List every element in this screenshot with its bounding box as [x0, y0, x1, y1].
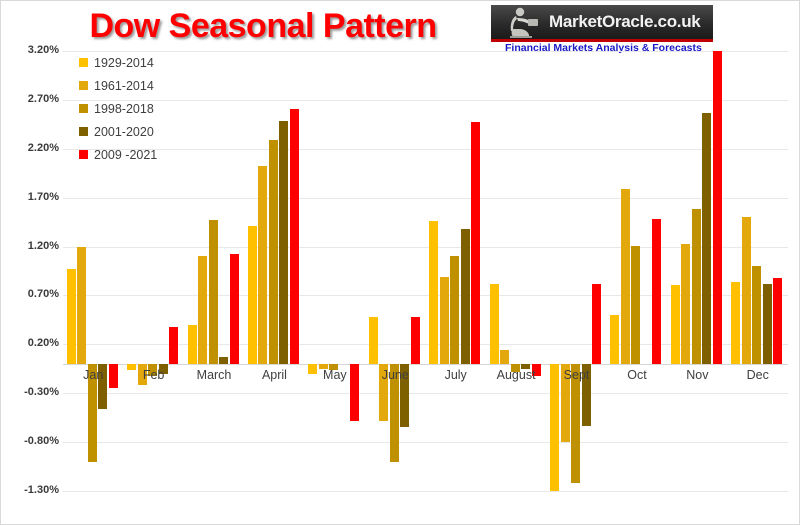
- y-axis-tick-label: 3.20%: [3, 44, 59, 56]
- gridline: [63, 491, 788, 492]
- gridline: [63, 198, 788, 199]
- bar[interactable]: [269, 140, 278, 364]
- x-axis-tick-label: April: [244, 368, 304, 382]
- logo-name: MarketOracle.co.uk: [549, 12, 700, 32]
- bar[interactable]: [702, 113, 711, 364]
- bar[interactable]: [258, 166, 267, 364]
- bar[interactable]: [369, 317, 378, 364]
- bar[interactable]: [681, 244, 690, 364]
- bar[interactable]: [77, 247, 86, 364]
- x-axis-tick-label: March: [184, 368, 244, 382]
- bar[interactable]: [671, 285, 680, 364]
- bar[interactable]: [752, 266, 761, 364]
- gridline: [63, 442, 788, 443]
- bar[interactable]: [592, 284, 601, 364]
- bar[interactable]: [742, 217, 751, 364]
- y-axis-tick-label: 2.20%: [3, 142, 59, 154]
- bar[interactable]: [610, 315, 619, 364]
- chart-frame: Dow Seasonal Pattern MarketOracle.co.uk …: [0, 0, 800, 525]
- bar[interactable]: [500, 350, 509, 364]
- legend-item-label: 1961-2014: [94, 79, 154, 93]
- legend-swatch-icon: [79, 81, 88, 90]
- bar[interactable]: [631, 246, 640, 364]
- x-axis-tick-label: Jan: [63, 368, 123, 382]
- bar[interactable]: [188, 325, 197, 364]
- y-axis-tick-label: 0.70%: [3, 288, 59, 300]
- bar[interactable]: [713, 51, 722, 364]
- y-axis-tick-label: -0.80%: [3, 435, 59, 447]
- bar[interactable]: [198, 256, 207, 364]
- x-axis-tick-label: Sept: [546, 368, 606, 382]
- bar[interactable]: [169, 327, 178, 364]
- y-axis-tick-label: 0.20%: [3, 337, 59, 349]
- legend-item[interactable]: 2009 -2021: [79, 143, 209, 166]
- y-axis-tick-label: 1.20%: [3, 240, 59, 252]
- bar[interactable]: [230, 254, 239, 364]
- gridline: [63, 247, 788, 248]
- legend-item-label: 1998-2018: [94, 102, 154, 116]
- x-axis-tick-label: May: [305, 368, 365, 382]
- bar[interactable]: [461, 229, 470, 364]
- oracle-figure-icon: [503, 7, 545, 38]
- bar[interactable]: [67, 269, 76, 364]
- bar[interactable]: [411, 317, 420, 364]
- bar[interactable]: [429, 221, 438, 364]
- bar[interactable]: [450, 256, 459, 364]
- y-axis-tick-label: -1.30%: [3, 484, 59, 496]
- y-axis-tick-label: 1.70%: [3, 191, 59, 203]
- logo-bar: MarketOracle.co.uk: [491, 5, 713, 42]
- bar[interactable]: [279, 121, 288, 363]
- legend-item[interactable]: 2001-2020: [79, 120, 209, 143]
- x-axis-tick-label: Dec: [728, 368, 788, 382]
- bar[interactable]: [248, 226, 257, 364]
- legend-swatch-icon: [79, 150, 88, 159]
- bar[interactable]: [692, 209, 701, 363]
- y-axis-tick-label: -0.30%: [3, 386, 59, 398]
- x-axis-tick-label: Oct: [607, 368, 667, 382]
- bar[interactable]: [290, 109, 299, 364]
- x-axis-tick-label: June: [365, 368, 425, 382]
- bar[interactable]: [440, 277, 449, 364]
- bar[interactable]: [773, 278, 782, 364]
- legend-item-label: 2001-2020: [94, 125, 154, 139]
- zero-baseline: [63, 364, 788, 365]
- legend-swatch-icon: [79, 104, 88, 113]
- bar[interactable]: [731, 282, 740, 364]
- gridline: [63, 393, 788, 394]
- bar[interactable]: [209, 220, 218, 364]
- legend-item-label: 1929-2014: [94, 56, 154, 70]
- chart-legend: 1929-20141961-20141998-20182001-20202009…: [79, 51, 209, 166]
- x-axis-tick-label: July: [426, 368, 486, 382]
- legend-swatch-icon: [79, 58, 88, 67]
- bar[interactable]: [471, 122, 480, 364]
- bar[interactable]: [763, 284, 772, 364]
- x-axis-tick-label: August: [486, 368, 546, 382]
- legend-item[interactable]: 1929-2014: [79, 51, 209, 74]
- bar[interactable]: [490, 284, 499, 364]
- bar[interactable]: [652, 219, 661, 364]
- x-axis-tick-label: Feb: [123, 368, 183, 382]
- bar[interactable]: [219, 357, 228, 364]
- legend-item-label: 2009 -2021: [94, 148, 157, 162]
- legend-item[interactable]: 1961-2014: [79, 74, 209, 97]
- bar[interactable]: [550, 364, 559, 491]
- legend-swatch-icon: [79, 127, 88, 136]
- x-axis-tick-label: Nov: [667, 368, 727, 382]
- y-axis-tick-label: 2.70%: [3, 93, 59, 105]
- legend-item[interactable]: 1998-2018: [79, 97, 209, 120]
- bar[interactable]: [621, 189, 630, 364]
